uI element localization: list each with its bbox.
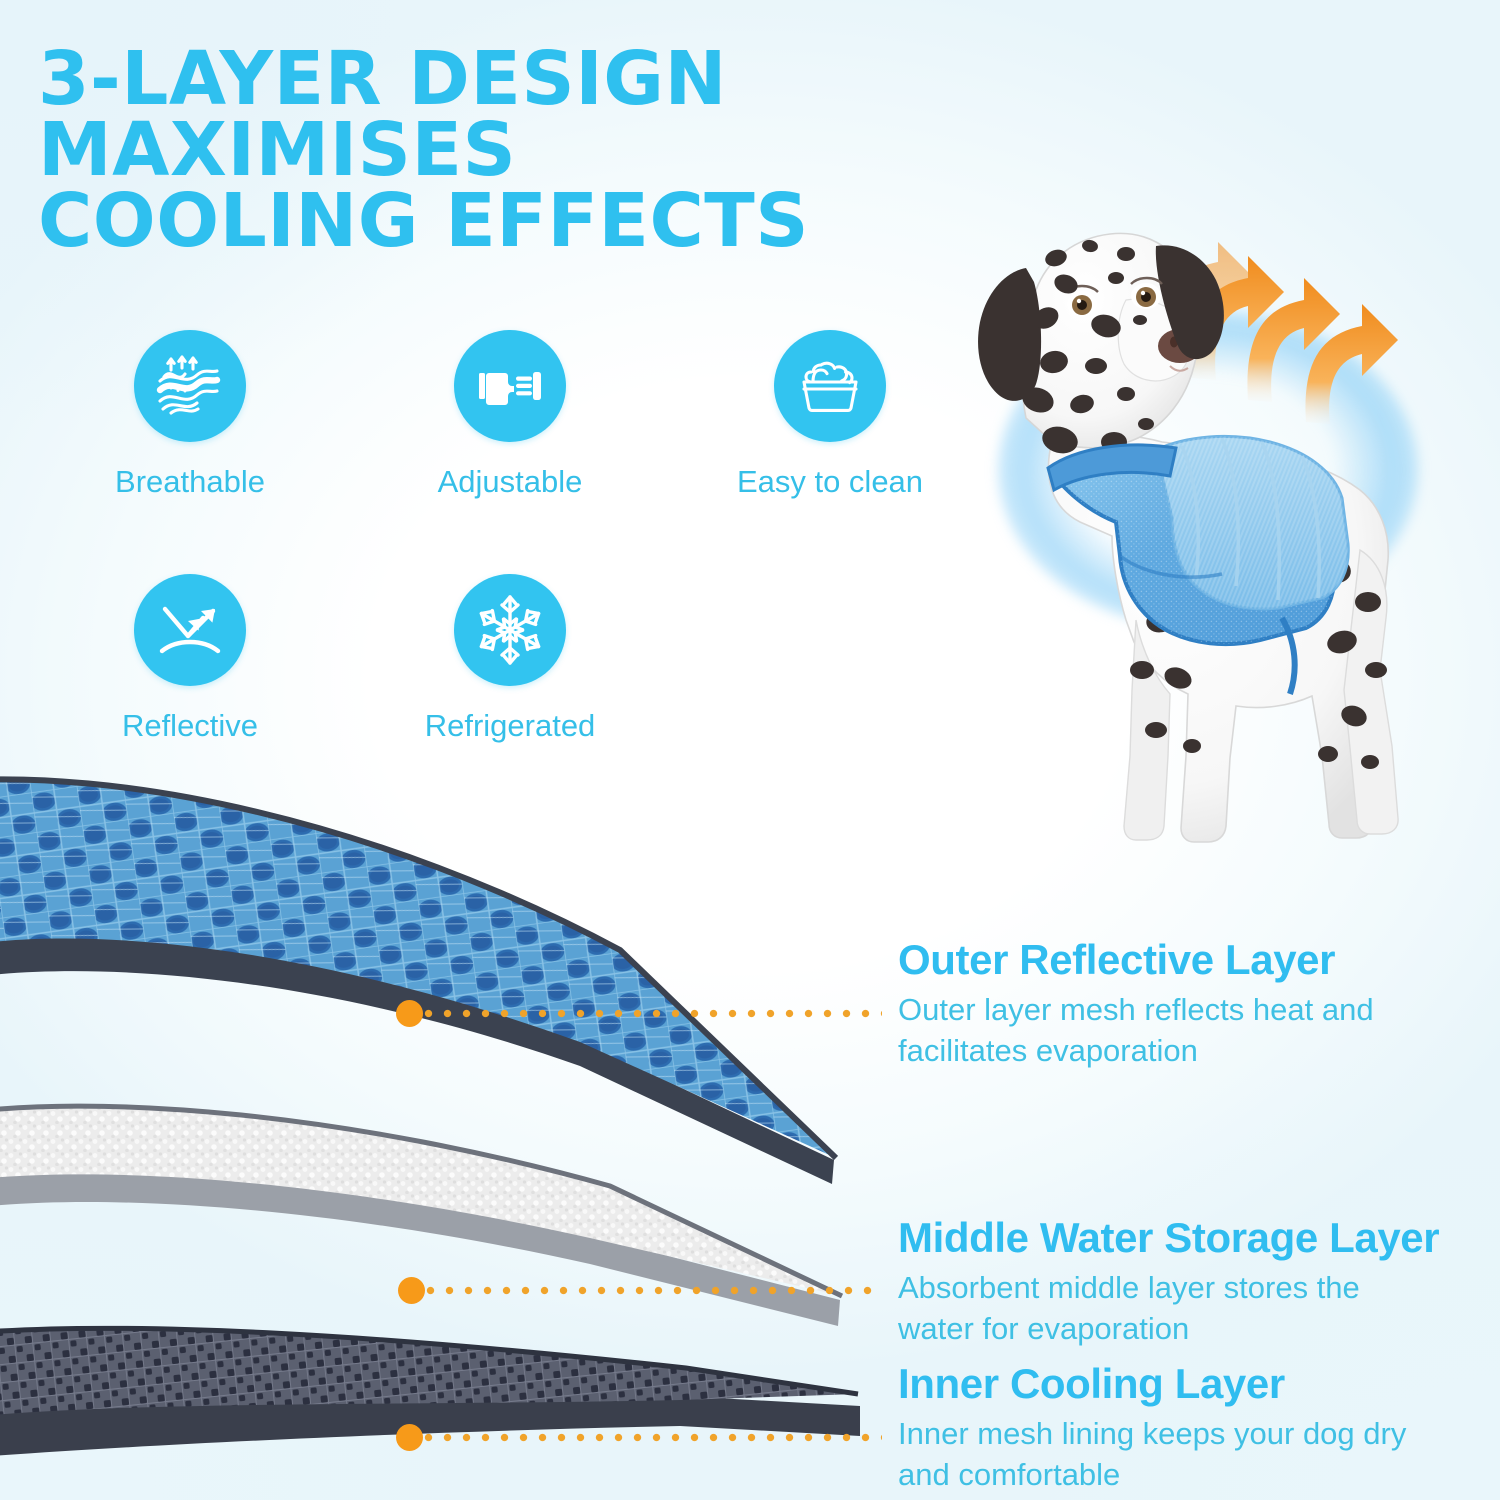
callout-description-line-1: Inner mesh lining keeps your dog dry — [898, 1414, 1500, 1455]
callout-description: Outer layer mesh reflects heat and facil… — [898, 990, 1500, 1072]
three-layer-swatches — [0, 760, 880, 1500]
leader-line-middle — [426, 1286, 882, 1295]
feature-breathable: Breathable — [30, 330, 350, 500]
breathable-fabric-icon — [134, 330, 246, 442]
buckle-icon — [454, 330, 566, 442]
feature-label: Easy to clean — [737, 464, 923, 500]
product-photo — [930, 150, 1500, 890]
feature-label: Adjustable — [438, 464, 583, 500]
infographic-page: 3-LAYER DESIGN MAXIMISES COOLING EFFECTS — [0, 0, 1500, 1500]
feature-label: Breathable — [115, 464, 265, 500]
dog-head — [978, 233, 1224, 447]
feature-reflective: Reflective — [30, 574, 350, 744]
callout-title: Outer Reflective Layer — [898, 938, 1500, 982]
snowflake-icon — [454, 574, 566, 686]
callout-description-line-2: and comfortable — [898, 1455, 1500, 1496]
callout-marker-middle — [398, 1277, 425, 1304]
feature-adjustable: Adjustable — [350, 330, 670, 500]
callout-description-line-2: water for evaporation — [898, 1309, 1500, 1350]
wash-basin-icon — [774, 330, 886, 442]
callout-description-line-2: facilitates evaporation — [898, 1031, 1500, 1072]
callout-description-line-1: Absorbent middle layer stores the — [898, 1268, 1500, 1309]
layer-stack-illustration — [0, 760, 880, 1500]
callout-inner-cooling-layer: Inner Cooling Layer Inner mesh lining ke… — [898, 1362, 1500, 1496]
feature-list: Breathable Adjustable — [30, 330, 990, 744]
dalmatian-dog-illustration — [930, 150, 1500, 890]
callout-description-line-1: Outer layer mesh reflects heat and — [898, 990, 1500, 1031]
callout-description: Absorbent middle layer stores the water … — [898, 1268, 1500, 1350]
feature-row-1: Breathable Adjustable — [30, 330, 990, 500]
reflected-ray-icon — [134, 574, 246, 686]
callout-title: Inner Cooling Layer — [898, 1362, 1500, 1406]
feature-row-2: Reflective — [30, 574, 990, 744]
callout-description: Inner mesh lining keeps your dog dry and… — [898, 1414, 1500, 1496]
callout-outer-reflective-layer: Outer Reflective Layer Outer layer mesh … — [898, 938, 1500, 1072]
leader-line-outer — [424, 1009, 882, 1018]
feature-label: Refrigerated — [425, 708, 596, 744]
feature-refrigerated: Refrigerated — [350, 574, 670, 744]
callout-title: Middle Water Storage Layer — [898, 1216, 1500, 1260]
leader-line-inner — [424, 1433, 882, 1442]
title-line-1: 3-LAYER DESIGN MAXIMISES — [38, 36, 727, 193]
callout-marker-inner — [396, 1424, 423, 1451]
callout-middle-water-storage-layer: Middle Water Storage Layer Absorbent mid… — [898, 1216, 1500, 1350]
feature-label: Reflective — [122, 708, 258, 744]
callout-marker-outer — [396, 1000, 423, 1027]
